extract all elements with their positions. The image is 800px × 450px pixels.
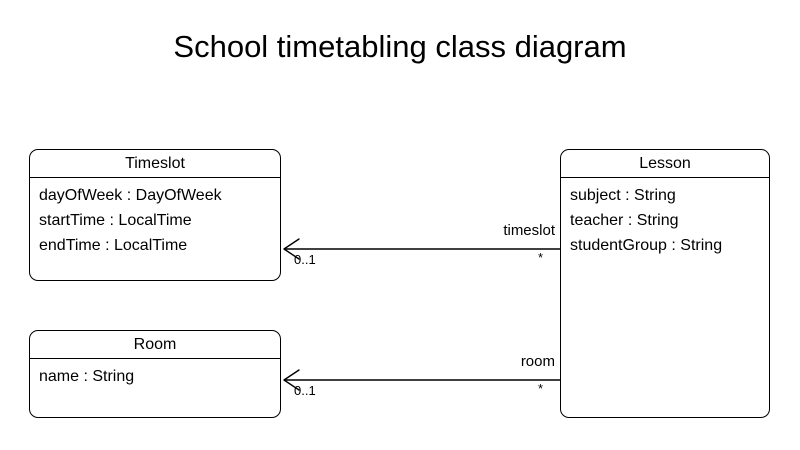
diagram-title: School timetabling class diagram <box>0 28 800 66</box>
association-lesson-timeslot <box>284 239 560 259</box>
class-attribute: endTime : LocalTime <box>39 233 280 258</box>
class-attribute: startTime : LocalTime <box>39 208 280 233</box>
class-box-timeslot[interactable]: Timeslot dayOfWeek : DayOfWeek startTime… <box>29 149 281 281</box>
class-attributes-room: name : String <box>30 359 280 389</box>
class-attributes-timeslot: dayOfWeek : DayOfWeek startTime : LocalT… <box>30 178 280 258</box>
association-multiplicity-room-target: 0..1 <box>294 383 316 399</box>
class-attribute: studentGroup : String <box>570 233 769 258</box>
association-role-label-room: room <box>398 353 555 371</box>
association-lesson-room <box>284 370 560 390</box>
class-attribute: subject : String <box>570 183 769 208</box>
class-attribute: teacher : String <box>570 208 769 233</box>
class-name-room: Room <box>30 331 280 358</box>
association-multiplicity-room-source: * <box>538 381 543 397</box>
class-attribute: dayOfWeek : DayOfWeek <box>39 183 280 208</box>
association-multiplicity-timeslot-target: 0..1 <box>294 252 316 268</box>
class-name-timeslot: Timeslot <box>30 150 280 177</box>
association-role-label-timeslot: timeslot <box>398 222 555 240</box>
class-box-room[interactable]: Room name : String <box>29 330 281 418</box>
association-multiplicity-timeslot-source: * <box>538 250 543 266</box>
class-name-lesson: Lesson <box>561 150 769 177</box>
class-diagram-canvas: School timetabling class diagram Timeslo… <box>0 0 800 450</box>
class-box-lesson[interactable]: Lesson subject : String teacher : String… <box>560 149 770 418</box>
class-attributes-lesson: subject : String teacher : String studen… <box>561 178 769 258</box>
class-attribute: name : String <box>39 364 280 389</box>
